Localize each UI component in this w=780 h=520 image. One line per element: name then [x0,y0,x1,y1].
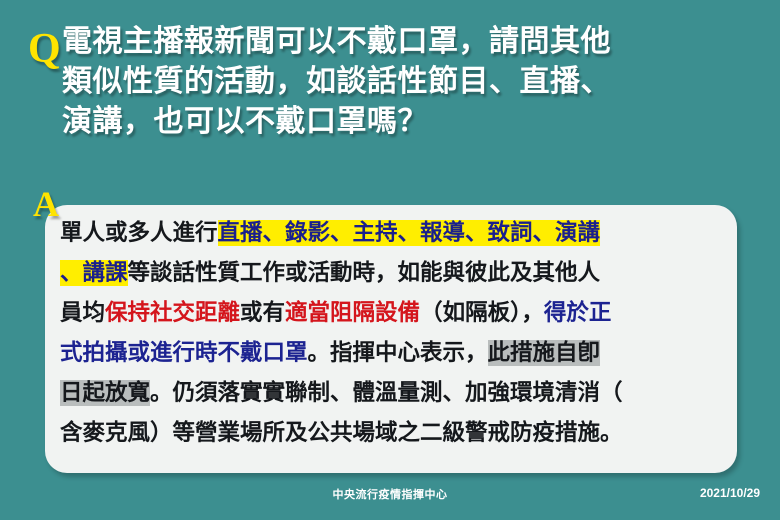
answer-line: 員均保持社交距離或有適當阻隔設備（如隔板），得於正 [60,293,728,333]
answer-line: 含麥克風）等營業場所及公共場域之二級警戒防疫措施。 [60,413,728,453]
footer-date: 2021/10/29 [700,486,760,500]
answer-segment-red: 保持社交距離 [105,300,240,326]
answer-marker: A [33,186,59,222]
question-marker: Q [28,28,61,70]
answer-card: 單人或多人進行直播、錄影、主持、報導、致詞、演講、講課等談話性質工作或活動時，如… [45,205,737,473]
answer-segment-plain: 員均 [60,300,105,326]
poster-root: Q 電視主播報新聞可以不戴口罩，請問其他 類似性質的活動，如談話性節目、直播、 … [0,0,780,520]
answer-line: 式拍攝或進行時不戴口罩。指揮中心表示，此措施自卽 [60,333,728,373]
answer-segment-blue: 得於正 [544,300,612,326]
answer-segment-blue: 式拍攝或進行時不戴口罩 [60,340,308,366]
answer-segment-plain: 等談話性質工作或活動時，如能與彼此及其他人 [128,260,601,286]
question-text: 電視主播報新聞可以不戴口罩，請問其他 類似性質的活動，如談話性節目、直播、 演講… [62,22,762,142]
answer-segment-highlight-yellow: 直播、錄影、主持、報導、致詞、演講 [218,220,601,246]
question-line: 演講，也可以不戴口罩嗎？ [62,102,762,142]
answer-segment-plain: 或有 [240,300,285,326]
answer-segment-plain: （如隔板）， [420,300,544,326]
answer-line: 單人或多人進行直播、錄影、主持、報導、致詞、演講 [60,213,728,253]
footer: 中央流行疫情指揮中心 2021/10/29 [0,486,780,508]
answer-line: 日起放寬。仍須落實實聯制、體溫量測、加強環境清消（ [60,373,728,413]
question-block: Q 電視主播報新聞可以不戴口罩，請問其他 類似性質的活動，如談話性節目、直播、 … [0,22,780,182]
answer-segment-plain: 。仍須落實實聯制、體溫量測、加強環境清消（ [150,380,623,406]
answer-segment-highlight-yellow: 、講課 [60,260,128,286]
answer-segment-plain: 單人或多人進行 [60,220,218,246]
answer-segment-plain: 。指揮中心表示， [308,340,488,366]
answer-segment-highlight-gray: 日起放寬 [60,380,150,406]
answer-segment-plain: 含麥克風）等營業場所及公共場域之二級警戒防疫措施。 [60,420,623,446]
answer-segment-red: 適當阻隔設備 [285,300,420,326]
answer-segment-highlight-gray: 此措施自卽 [488,340,601,366]
footer-organization: 中央流行疫情指揮中心 [0,486,780,502]
answer-line: 、講課等談話性質工作或活動時，如能與彼此及其他人 [60,253,728,293]
question-line: 電視主播報新聞可以不戴口罩，請問其他 [62,22,762,62]
answer-text: 單人或多人進行直播、錄影、主持、報導、致詞、演講、講課等談話性質工作或活動時，如… [60,213,728,453]
question-line: 類似性質的活動，如談話性節目、直播、 [62,62,762,102]
